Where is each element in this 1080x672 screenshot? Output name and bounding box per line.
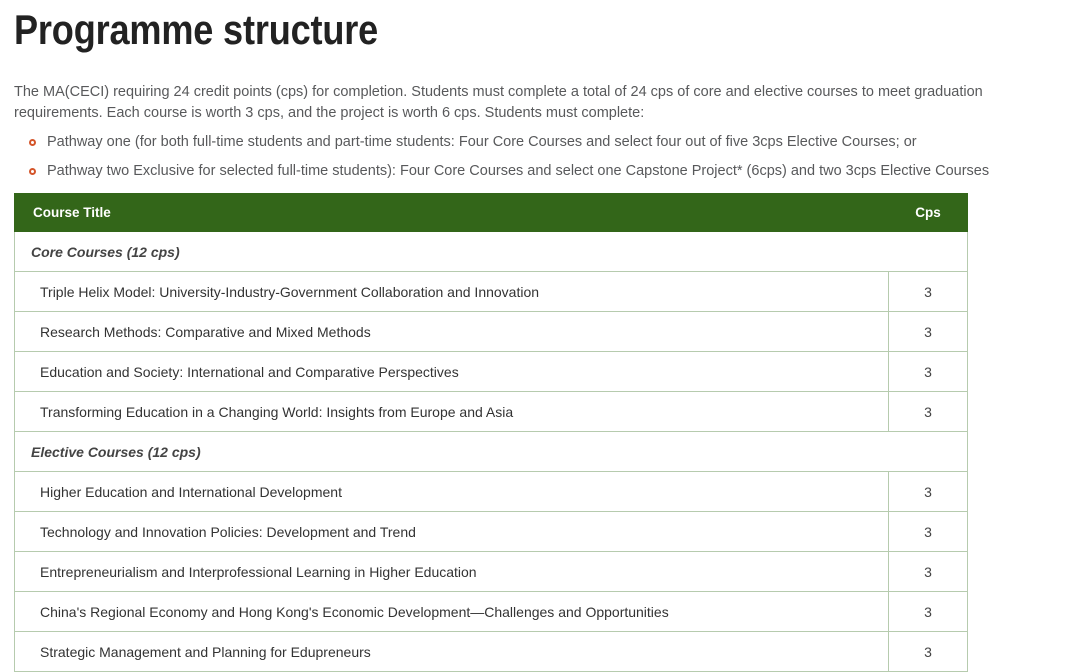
table-section-row: Elective Courses (12 cps) bbox=[15, 432, 968, 472]
pathway-label: Pathway one (for both full-time students… bbox=[47, 134, 917, 150]
programme-structure-page: Programme structure The MA(CECI) requiri… bbox=[0, 0, 1080, 672]
course-cps-cell: 3 bbox=[889, 632, 968, 672]
table-section-row: Core Courses (12 cps) bbox=[15, 232, 968, 272]
course-cps-cell: 3 bbox=[889, 352, 968, 392]
section-title: Core Courses (12 cps) bbox=[15, 232, 968, 272]
table-row: Higher Education and International Devel… bbox=[15, 472, 968, 512]
course-cps-cell: 3 bbox=[889, 472, 968, 512]
table-header-row: Course Title Cps bbox=[15, 194, 968, 232]
course-title-cell: Technology and Innovation Policies: Deve… bbox=[15, 512, 889, 552]
column-header-cps: Cps bbox=[889, 194, 968, 232]
section-title: Elective Courses (12 cps) bbox=[15, 432, 968, 472]
table-row: Technology and Innovation Policies: Deve… bbox=[15, 512, 968, 552]
course-cps-cell: 3 bbox=[889, 512, 968, 552]
pathway-list-item: Pathway one (for both full-time students… bbox=[14, 132, 1066, 152]
course-cps-cell: 3 bbox=[889, 272, 968, 312]
course-cps-cell: 3 bbox=[889, 312, 968, 352]
bullet-ring-icon bbox=[29, 168, 36, 175]
course-title-cell: Research Methods: Comparative and Mixed … bbox=[15, 312, 889, 352]
course-structure-table: Course Title Cps Core Courses (12 cps)Tr… bbox=[14, 193, 968, 672]
table-header: Course Title Cps bbox=[15, 194, 968, 232]
course-cps-cell: 3 bbox=[889, 592, 968, 632]
table-row: Education and Society: International and… bbox=[15, 352, 968, 392]
bullet-ring-icon bbox=[29, 139, 36, 146]
pathway-label: Pathway two Exclusive for selected full-… bbox=[47, 163, 989, 179]
pathway-list-item: Pathway two Exclusive for selected full-… bbox=[14, 161, 1066, 181]
table-row: Research Methods: Comparative and Mixed … bbox=[15, 312, 968, 352]
pathway-list: Pathway one (for both full-time students… bbox=[14, 123, 1066, 181]
page-title: Programme structure bbox=[14, 0, 919, 52]
intro-paragraph: The MA(CECI) requiring 24 credit points … bbox=[14, 52, 1066, 123]
course-cps-cell: 3 bbox=[889, 392, 968, 432]
column-header-course-title: Course Title bbox=[15, 194, 889, 232]
course-title-cell: Entrepreneurialism and Interprofessional… bbox=[15, 552, 889, 592]
course-title-cell: Higher Education and International Devel… bbox=[15, 472, 889, 512]
course-title-cell: Triple Helix Model: University-Industry-… bbox=[15, 272, 889, 312]
table-row: Entrepreneurialism and Interprofessional… bbox=[15, 552, 968, 592]
table-row: Transforming Education in a Changing Wor… bbox=[15, 392, 968, 432]
table-row: Triple Helix Model: University-Industry-… bbox=[15, 272, 968, 312]
table-row: China's Regional Economy and Hong Kong's… bbox=[15, 592, 968, 632]
table-body: Core Courses (12 cps)Triple Helix Model:… bbox=[15, 232, 968, 672]
course-title-cell: Strategic Management and Planning for Ed… bbox=[15, 632, 889, 672]
course-title-cell: Transforming Education in a Changing Wor… bbox=[15, 392, 889, 432]
course-cps-cell: 3 bbox=[889, 552, 968, 592]
course-title-cell: China's Regional Economy and Hong Kong's… bbox=[15, 592, 889, 632]
table-row: Strategic Management and Planning for Ed… bbox=[15, 632, 968, 672]
course-title-cell: Education and Society: International and… bbox=[15, 352, 889, 392]
